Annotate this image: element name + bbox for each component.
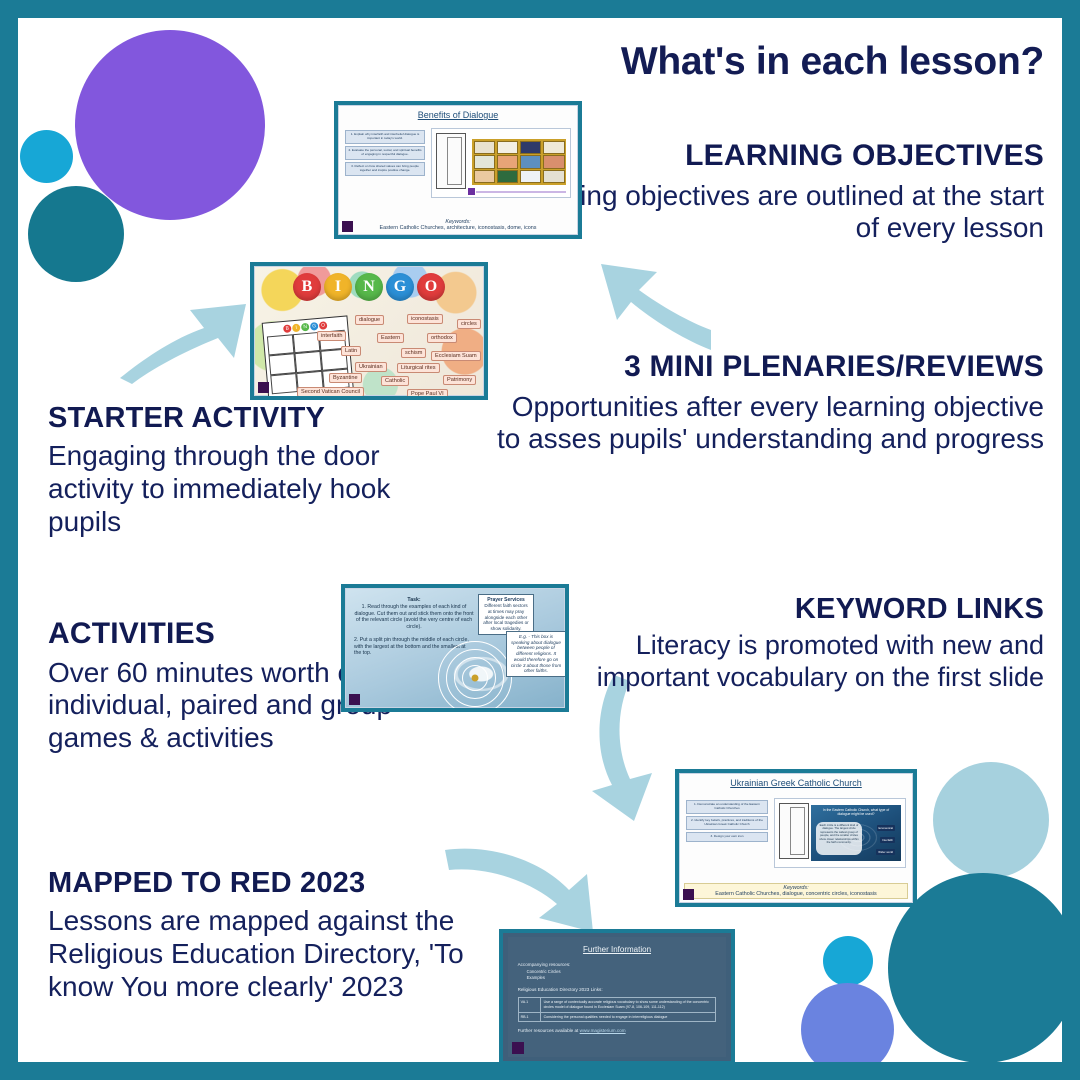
keyword-chip-list: dialogue iconostasis circles interfaith … <box>255 267 483 395</box>
icon-thumb <box>520 155 542 168</box>
door-illustration-icon <box>779 803 809 859</box>
icon-thumb <box>543 170 565 183</box>
bullet-resources: Accompanying resources: Concentric Circl… <box>518 962 727 981</box>
embedded-slide-preview: In the Eastern Catholic Church, what typ… <box>811 805 901 861</box>
keyword-chip: Byzantine <box>329 373 362 383</box>
bullet-text: Accompanying resources: <box>518 962 727 969</box>
icon-thumb <box>474 170 496 183</box>
table-cell-code: VA.1 <box>519 998 541 1011</box>
section-keyword-links: KEYWORD LINKS Literacy is promoted with … <box>524 594 1044 694</box>
decorative-circle-cyan-small-2 <box>823 936 873 986</box>
slide-body: B I N G O B I N G O <box>254 266 484 396</box>
section-mini-plenaries: 3 MINI PLENARIES/REVIEWS Opportunities a… <box>484 351 1044 456</box>
decorative-circle-periwinkle <box>801 983 894 1062</box>
table-cell-code: RB.1 <box>519 1013 541 1022</box>
slide-body: Benefits of Dialogue 1. Explain why inte… <box>338 105 578 235</box>
objectives-list: 1. Demonstrate an understanding of the E… <box>686 800 768 845</box>
keywords-bar: Keywords: Eastern Catholic Churches, dia… <box>684 883 908 899</box>
note-prayer-services: Prayer Services Different faith sectors … <box>478 594 534 635</box>
table-cell-description: Considering the personal qualities neede… <box>541 1013 671 1022</box>
icon-thumb <box>520 141 542 154</box>
keyword-chip: iconostasis <box>407 314 443 324</box>
infographic-canvas: What's in each lesson? LEARNING OBJECTIV… <box>18 18 1062 1062</box>
embedded-label: Wider world <box>876 849 895 855</box>
slide-thumbnail-task-concentric-circles[interactable]: Task: 1. Read through the examples of ea… <box>341 584 569 712</box>
icon-thumb <box>543 155 565 168</box>
keyword-chip: Catholic <box>381 376 409 386</box>
slide-thumbnail-benefits-of-dialogue[interactable]: Benefits of Dialogue 1. Explain why inte… <box>334 101 582 239</box>
brand-logo <box>258 382 269 393</box>
slide-body: Ukrainian Greek Catholic Church 1. Demon… <box>679 773 913 903</box>
slide-title: Benefits of Dialogue <box>339 106 577 120</box>
bullet-further-resources: Further resources available at www.magis… <box>518 1028 727 1035</box>
keyword-chip: Pope Paul VI <box>407 389 448 399</box>
keyword-chip: Second Vatican Council <box>297 387 364 397</box>
icon-thumb <box>497 170 519 183</box>
keyword-chip: circles <box>457 319 481 329</box>
objective-item: 2. Identify key beliefs, practices, and … <box>686 816 768 830</box>
purple-marker <box>468 188 475 195</box>
keywords-bar: Keywords: Eastern Catholic Churches, arc… <box>343 219 573 231</box>
note-example: E.g. - This box is speaking about dialog… <box>506 631 566 677</box>
icon-thumb <box>497 141 519 154</box>
table-cell-description: Use a range of contextually accurate rel… <box>541 998 716 1011</box>
keyword-chip: Ecclesiam Suam <box>431 351 481 361</box>
brand-logo <box>349 694 360 705</box>
section-starter-activity: STARTER ACTIVITY Engaging through the do… <box>48 403 468 539</box>
sub-bullet: Examples <box>527 975 727 981</box>
decorative-circle-teal-small <box>28 186 124 282</box>
keyword-chip: Ukrainian <box>355 362 387 372</box>
keyword-chip: Liturgical rites <box>397 363 440 373</box>
embedded-header: In the Eastern Catholic Church, what typ… <box>817 808 895 817</box>
decorative-circle-purple <box>75 30 265 220</box>
mapped-to-red-body: Lessons are mapped against the Religious… <box>48 905 498 1003</box>
keyword-chip: Patrimony <box>443 375 476 385</box>
brand-logo <box>512 1042 524 1054</box>
icon-thumb <box>474 155 496 168</box>
keyword-chip: orthodox <box>427 333 457 343</box>
icon-thumb <box>520 170 542 183</box>
keyword-links-body: Literacy is promoted with new and import… <box>524 630 1044 693</box>
table-row: RB.1 Considering the personal qualities … <box>519 1013 716 1022</box>
slide-title: Further Information <box>508 937 727 954</box>
objective-item: 3. Reflect on how shared values can brin… <box>345 162 425 176</box>
slide-thumbnail-bingo[interactable]: B I N G O B I N G O <box>250 262 488 400</box>
objective-item: 3. Design your own icon <box>686 832 768 842</box>
slide-thumbnail-further-information[interactable]: Further Information Accompanying resourc… <box>499 929 735 1062</box>
slide-thumbnail-ukrainian-greek-catholic-church[interactable]: Ukrainian Greek Catholic Church 1. Demon… <box>675 769 917 907</box>
keyword-chip: dialogue <box>355 315 384 325</box>
divider-line <box>476 191 566 193</box>
task-heading: Task: <box>354 597 474 604</box>
mini-plenaries-heading: 3 MINI PLENARIES/REVIEWS <box>484 351 1044 383</box>
resource-link[interactable]: www.magisterium.com <box>580 1028 626 1033</box>
slide-media <box>431 128 571 198</box>
table-row: VA.1 Use a range of contextually accurat… <box>519 998 716 1012</box>
starter-activity-body: Engaging through the door activity to im… <box>48 440 468 538</box>
bullet-red-links: Religious Education Directory 2023 Links… <box>518 987 727 994</box>
objective-item: 1. Explain why interfaith and interbelie… <box>345 130 425 144</box>
objective-item: 1. Demonstrate an understanding of the E… <box>686 800 768 814</box>
door-illustration-icon <box>436 133 466 189</box>
mini-plenaries-body: Opportunities after every learning objec… <box>484 391 1044 457</box>
keyword-chip: Eastern <box>377 333 404 343</box>
keyword-links-heading: KEYWORD LINKS <box>524 594 1044 624</box>
embedded-body-text: Each circle is a different kind of dialo… <box>816 822 862 855</box>
keyword-chip: Latin <box>341 346 361 356</box>
brand-logo <box>683 889 694 900</box>
page-title: What's in each lesson? <box>404 40 1044 84</box>
concentric-circles-diagram <box>438 641 512 712</box>
keywords-text: Eastern Catholic Churches, dialogue, con… <box>715 891 877 897</box>
decorative-circle-light-blue <box>933 762 1049 878</box>
icon-thumb <box>497 155 519 168</box>
objective-item: 2. Evaluate the personal, social, and sp… <box>345 146 425 160</box>
objectives-list: 1. Explain why interfaith and interbelie… <box>345 130 425 179</box>
embedded-label: Interfaith <box>880 837 895 843</box>
embedded-label: Ecumenical <box>877 825 895 831</box>
icon-thumb <box>543 141 565 154</box>
red-links-table: VA.1 Use a range of contextually accurat… <box>518 997 717 1022</box>
keywords-text: Eastern Catholic Churches, architecture,… <box>380 225 537 231</box>
slide-media: In the Eastern Catholic Church, what typ… <box>774 798 906 868</box>
icon-thumb <box>474 141 496 154</box>
slide-page: Further Information Accompanying resourc… <box>508 937 727 1057</box>
split-pin-dot <box>472 675 479 682</box>
brand-logo <box>342 221 353 232</box>
section-mapped-to-red: MAPPED TO RED 2023 Lessons are mapped ag… <box>48 868 498 1004</box>
keyword-chip: interfaith <box>317 331 346 341</box>
bullet-text: Further resources available at <box>518 1028 579 1033</box>
slide-body: Further Information Accompanying resourc… <box>503 933 731 1061</box>
task-step-1: 1. Read through the examples of each kin… <box>354 604 474 631</box>
keyword-chip: schism <box>401 348 426 358</box>
arrow-up-left-icon <box>573 246 713 356</box>
decorative-circle-cyan-small <box>20 130 73 183</box>
arrow-up-right-icon <box>118 266 258 386</box>
mapped-to-red-heading: MAPPED TO RED 2023 <box>48 868 498 898</box>
starter-activity-heading: STARTER ACTIVITY <box>48 403 468 433</box>
religious-icon-grid <box>472 139 566 185</box>
slide-body: Task: 1. Read through the examples of ea… <box>345 588 565 708</box>
slide-title: Ukrainian Greek Catholic Church <box>680 774 912 788</box>
note-body: Different faith sectors at times may pra… <box>483 603 528 631</box>
